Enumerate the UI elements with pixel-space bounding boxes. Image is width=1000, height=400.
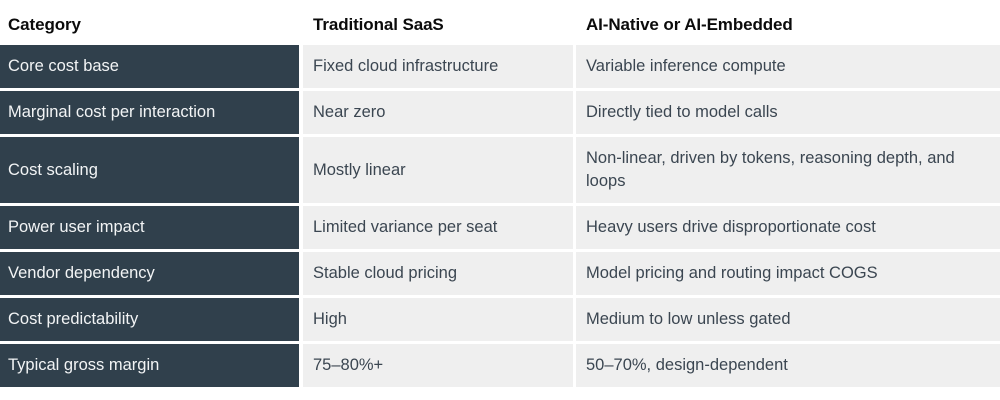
row-ai-native-value: Directly tied to model calls <box>576 91 1000 137</box>
table-row: Cost predictability High Medium to low u… <box>0 298 1000 344</box>
row-traditional-value: Stable cloud pricing <box>303 252 576 298</box>
row-ai-native-value: Medium to low unless gated <box>576 298 1000 344</box>
table-header-row: Category Traditional SaaS AI-Native or A… <box>0 0 1000 45</box>
table-row: Vendor dependency Stable cloud pricing M… <box>0 252 1000 298</box>
column-header-category: Category <box>0 0 303 45</box>
row-traditional-value: High <box>303 298 576 344</box>
table-row: Power user impact Limited variance per s… <box>0 206 1000 252</box>
table-row: Marginal cost per interaction Near zero … <box>0 91 1000 137</box>
row-traditional-value: Fixed cloud infrastructure <box>303 45 576 91</box>
row-ai-native-value: Non-linear, driven by tokens, reasoning … <box>576 137 1000 206</box>
table-row: Typical gross margin 75–80%+ 50–70%, des… <box>0 344 1000 387</box>
table-row: Cost scaling Mostly linear Non-linear, d… <box>0 137 1000 206</box>
row-category-label: Cost scaling <box>0 137 303 206</box>
row-category-label: Cost predictability <box>0 298 303 344</box>
row-traditional-value: Limited variance per seat <box>303 206 576 252</box>
table-row: Core cost base Fixed cloud infrastructur… <box>0 45 1000 91</box>
row-category-label: Typical gross margin <box>0 344 303 387</box>
row-ai-native-value: Variable inference compute <box>576 45 1000 91</box>
row-ai-native-value: Model pricing and routing impact COGS <box>576 252 1000 298</box>
row-traditional-value: Near zero <box>303 91 576 137</box>
column-header-ai-native: AI-Native or AI-Embedded <box>576 0 1000 45</box>
row-ai-native-value: 50–70%, design-dependent <box>576 344 1000 387</box>
row-traditional-value: 75–80%+ <box>303 344 576 387</box>
row-ai-native-value: Heavy users drive disproportionate cost <box>576 206 1000 252</box>
row-traditional-value: Mostly linear <box>303 137 576 206</box>
row-category-label: Vendor dependency <box>0 252 303 298</box>
table-body: Core cost base Fixed cloud infrastructur… <box>0 45 1000 387</box>
table-header: Category Traditional SaaS AI-Native or A… <box>0 0 1000 45</box>
column-header-traditional-saas: Traditional SaaS <box>303 0 576 45</box>
row-category-label: Marginal cost per interaction <box>0 91 303 137</box>
cost-structure-comparison-table: Category Traditional SaaS AI-Native or A… <box>0 0 1000 387</box>
row-category-label: Power user impact <box>0 206 303 252</box>
row-category-label: Core cost base <box>0 45 303 91</box>
